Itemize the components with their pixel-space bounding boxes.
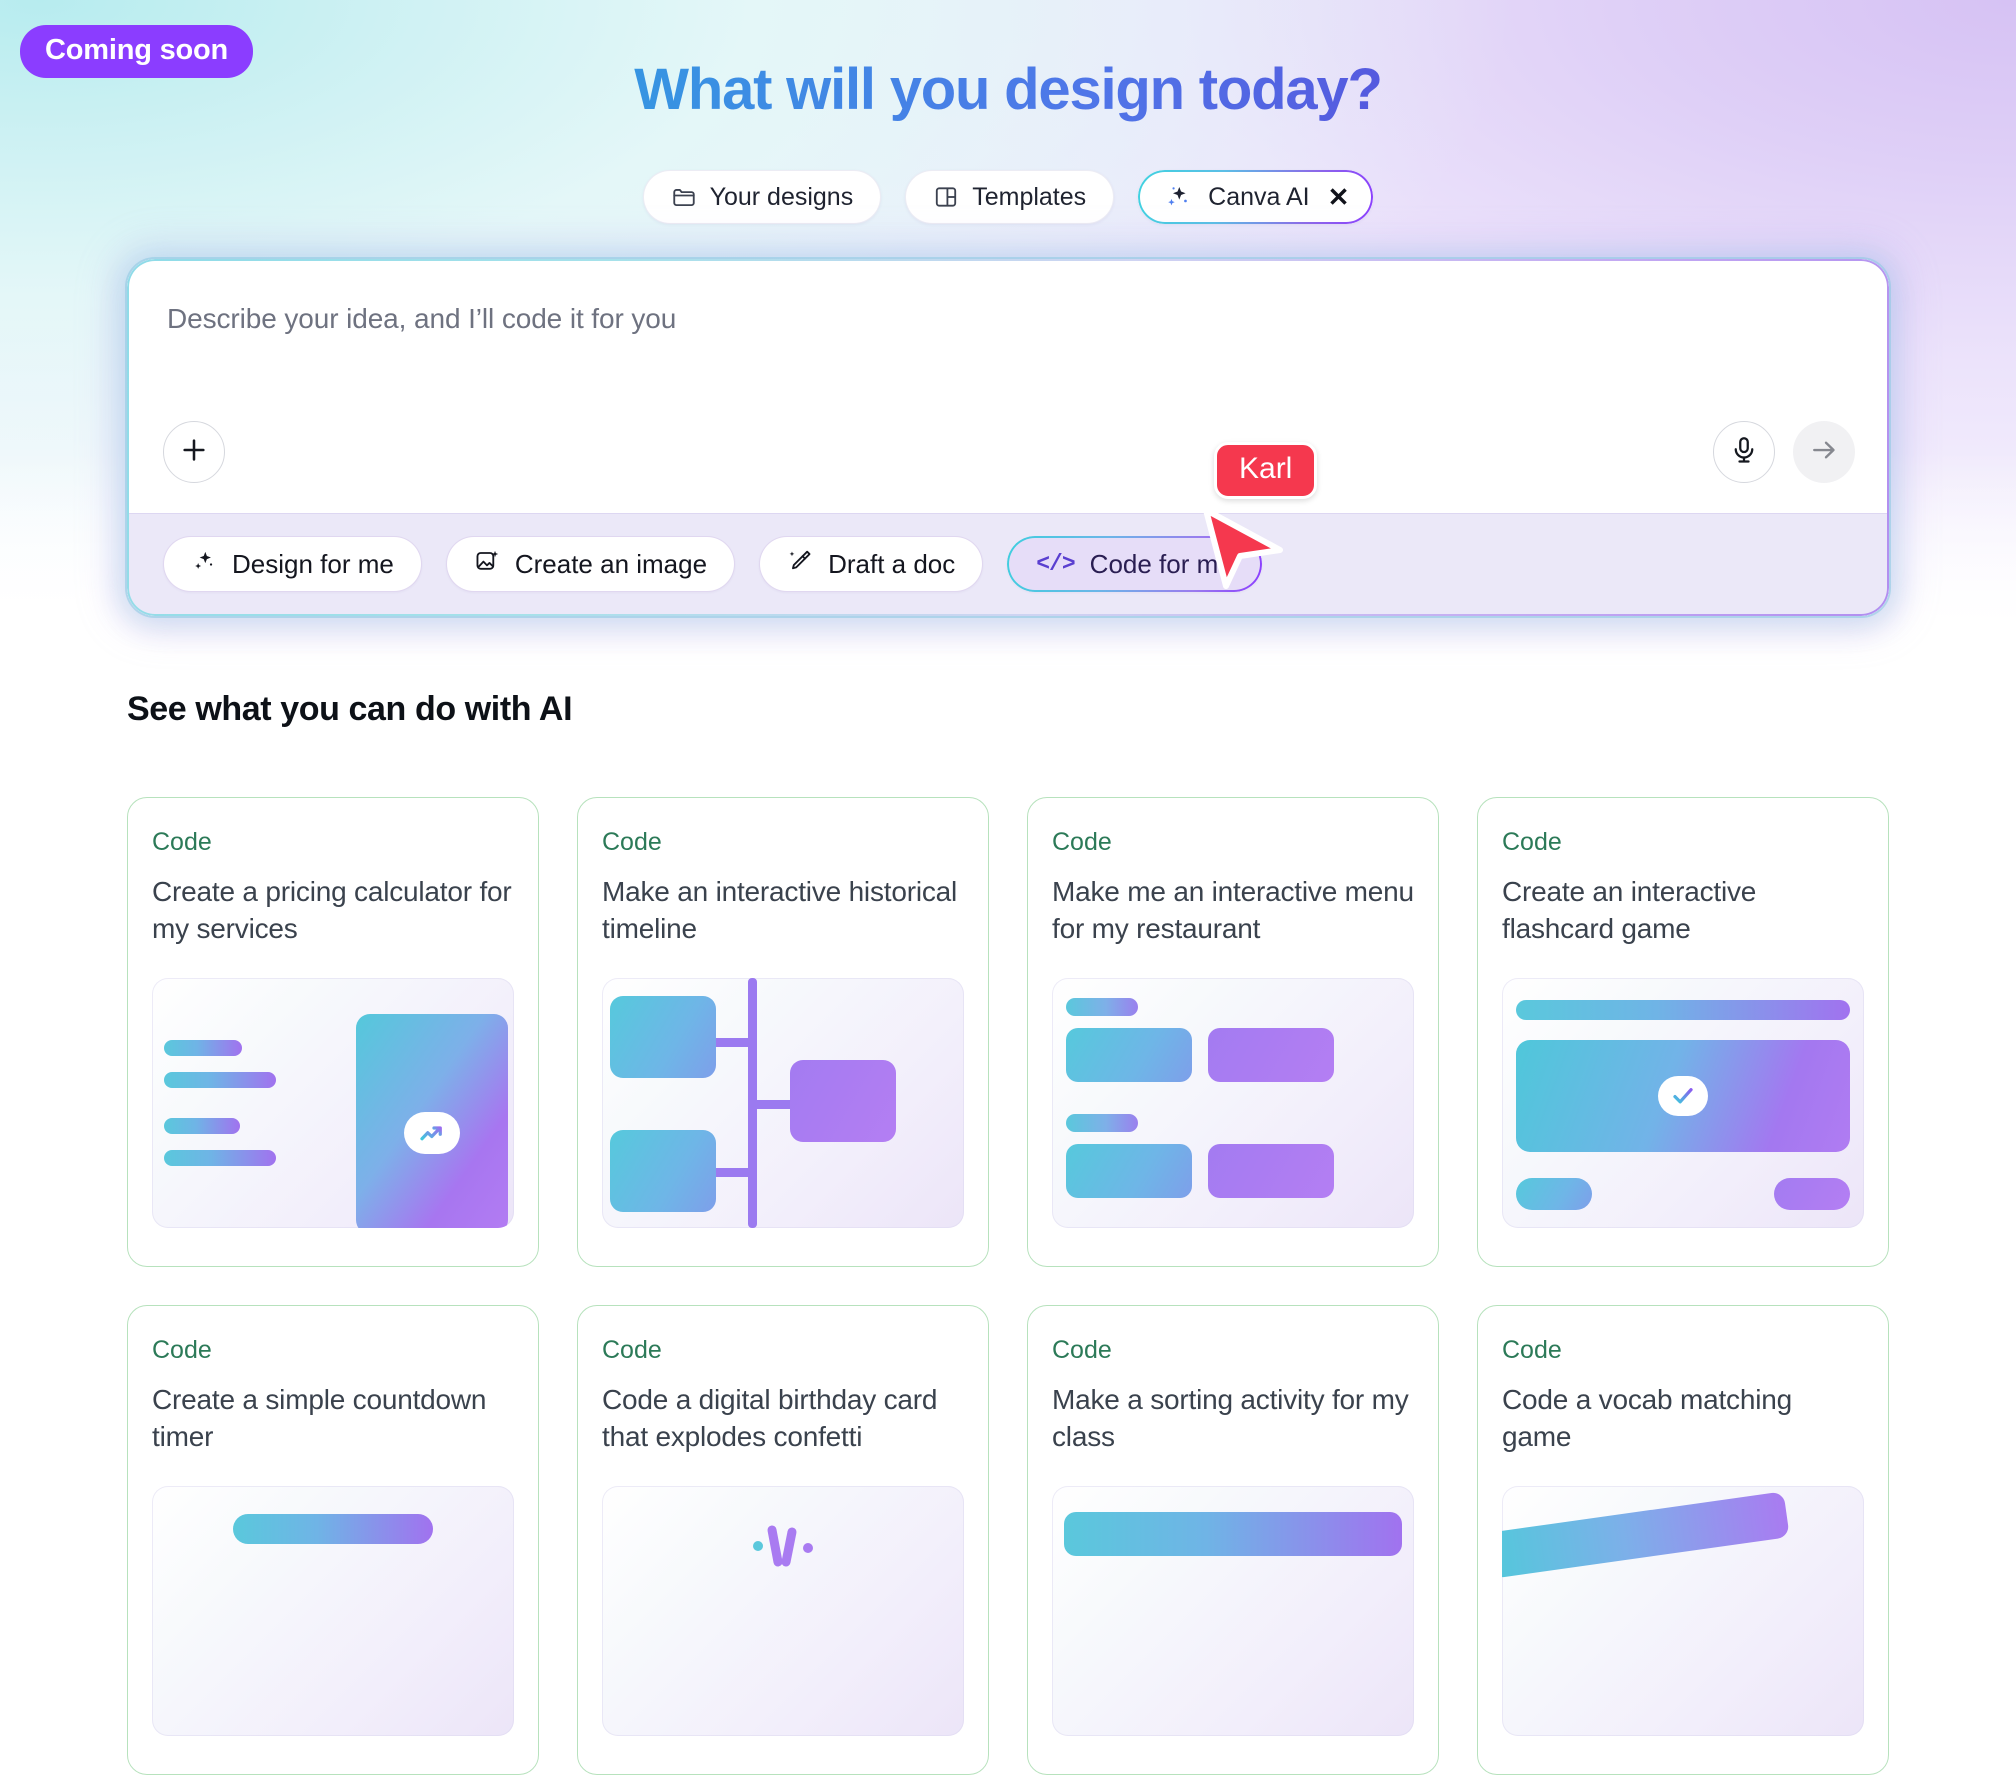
card-kicker: Code — [152, 828, 514, 857]
flashcard-body — [1516, 1040, 1850, 1152]
folder-icon — [671, 184, 697, 210]
prompt-box: Describe your idea, and I’ll code it for… — [127, 259, 1889, 616]
chip-label: Draft a doc — [828, 549, 955, 580]
check-icon — [1658, 1076, 1708, 1116]
add-attachment-button[interactable] — [163, 421, 225, 483]
menu-thumb — [1052, 978, 1414, 1228]
cursor-arrow-icon — [1196, 506, 1286, 597]
sparkle-icon — [191, 548, 217, 581]
page-title: What will you design today? — [0, 56, 2016, 123]
chip-design-for-me[interactable]: Design for me — [163, 536, 422, 592]
suggestion-card[interactable]: Code Make me an interactive menu for my … — [1027, 797, 1439, 1267]
card-title: Make a sorting activity for my class — [1052, 1382, 1414, 1462]
suggestion-card-grid: Code Create a pricing calculator for my … — [127, 797, 1889, 1775]
suggestion-card[interactable]: Code Code a vocab matching game — [1477, 1305, 1889, 1775]
close-icon[interactable]: ✕ — [1328, 184, 1350, 210]
vocab-band — [1502, 1491, 1790, 1578]
chip-label: Design for me — [232, 549, 394, 580]
suggestion-card[interactable]: Code Create a simple countdown timer — [127, 1305, 539, 1775]
arrow-right-icon — [1809, 435, 1839, 470]
pricing-calculator-thumb — [152, 978, 514, 1228]
card-title: Create a pricing calculator for my servi… — [152, 874, 514, 954]
card-title: Create a simple countdown timer — [152, 1382, 514, 1462]
suggestion-card[interactable]: Code Create an interactive flashcard gam… — [1477, 797, 1889, 1267]
suggestion-card[interactable]: Code Make a sorting activity for my clas… — [1027, 1305, 1439, 1775]
flashcard-button — [1516, 1178, 1592, 1210]
quick-action-chips: Design for me Create an image — [127, 513, 1889, 616]
suggestion-card[interactable]: Code Create a pricing calculator for my … — [127, 797, 539, 1267]
thumb-panel — [356, 1014, 508, 1228]
suggestion-card[interactable]: Code Code a digital birthday card that e… — [577, 1305, 989, 1775]
card-title: Make an interactive historical timeline — [602, 874, 964, 954]
tab-label: Canva AI — [1208, 183, 1309, 212]
card-title: Make me an interactive menu for my resta… — [1052, 874, 1414, 954]
tab-canva-ai[interactable]: Canva AI ✕ — [1138, 170, 1373, 224]
layout-icon — [933, 184, 959, 210]
flashcard-button — [1774, 1178, 1850, 1210]
card-kicker: Code — [152, 1336, 514, 1365]
prompt-controls — [163, 421, 1855, 483]
microphone-icon — [1729, 435, 1759, 470]
flashcard-thumb — [1502, 978, 1864, 1228]
tab-bar: Your designs Templates Canva AI — [0, 170, 2016, 224]
timeline-thumb — [602, 978, 964, 1228]
card-kicker: Code — [602, 828, 964, 857]
card-kicker: Code — [602, 1336, 964, 1365]
thumb-bars — [164, 1040, 294, 1182]
section-title: See what you can do with AI — [127, 690, 572, 729]
prompt-input-area[interactable]: Describe your idea, and I’ll code it for… — [127, 259, 1889, 513]
vocab-thumb — [1502, 1486, 1864, 1736]
right-controls — [1713, 421, 1855, 483]
sparkle-icon — [1164, 183, 1192, 211]
card-kicker: Code — [1052, 828, 1414, 857]
countdown-thumb — [152, 1486, 514, 1736]
suggestion-card[interactable]: Code Make an interactive historical time… — [577, 797, 989, 1267]
magic-pen-icon — [787, 548, 813, 581]
countdown-bar — [233, 1514, 433, 1544]
tab-label: Templates — [972, 183, 1086, 212]
chip-draft-a-doc[interactable]: Draft a doc — [759, 536, 983, 592]
voice-input-button[interactable] — [1713, 421, 1775, 483]
plus-icon — [178, 434, 210, 471]
send-button[interactable] — [1793, 421, 1855, 483]
chip-create-an-image[interactable]: Create an image — [446, 536, 735, 592]
tab-templates[interactable]: Templates — [905, 170, 1114, 224]
confetti-thumb — [602, 1486, 964, 1736]
tab-your-designs[interactable]: Your designs — [643, 170, 882, 224]
prompt-placeholder: Describe your idea, and I’ll code it for… — [167, 303, 1849, 335]
flashcard-header-bar — [1516, 1000, 1850, 1020]
card-kicker: Code — [1052, 1336, 1414, 1365]
sorting-row — [1064, 1512, 1402, 1556]
timeline-node — [610, 996, 716, 1078]
timeline-node — [790, 1060, 896, 1142]
card-kicker: Code — [1502, 828, 1864, 857]
image-sparkle-icon — [474, 548, 500, 581]
canva-ai-home-page: Coming soon What will you design today? … — [0, 0, 2016, 1512]
card-title: Code a vocab matching game — [1502, 1382, 1864, 1462]
trend-up-icon — [404, 1112, 460, 1154]
sorting-thumb — [1052, 1486, 1414, 1736]
timeline-node — [610, 1130, 716, 1212]
cursor-name-label: Karl — [1214, 442, 1317, 499]
card-title: Create an interactive flashcard game — [1502, 874, 1864, 954]
tab-label: Your designs — [710, 183, 854, 212]
code-icon: </> — [1036, 551, 1074, 577]
confetti-burst-icon — [728, 1522, 838, 1597]
card-kicker: Code — [1502, 1336, 1864, 1365]
chip-label: Create an image — [515, 549, 707, 580]
card-title: Code a digital birthday card that explod… — [602, 1382, 964, 1462]
